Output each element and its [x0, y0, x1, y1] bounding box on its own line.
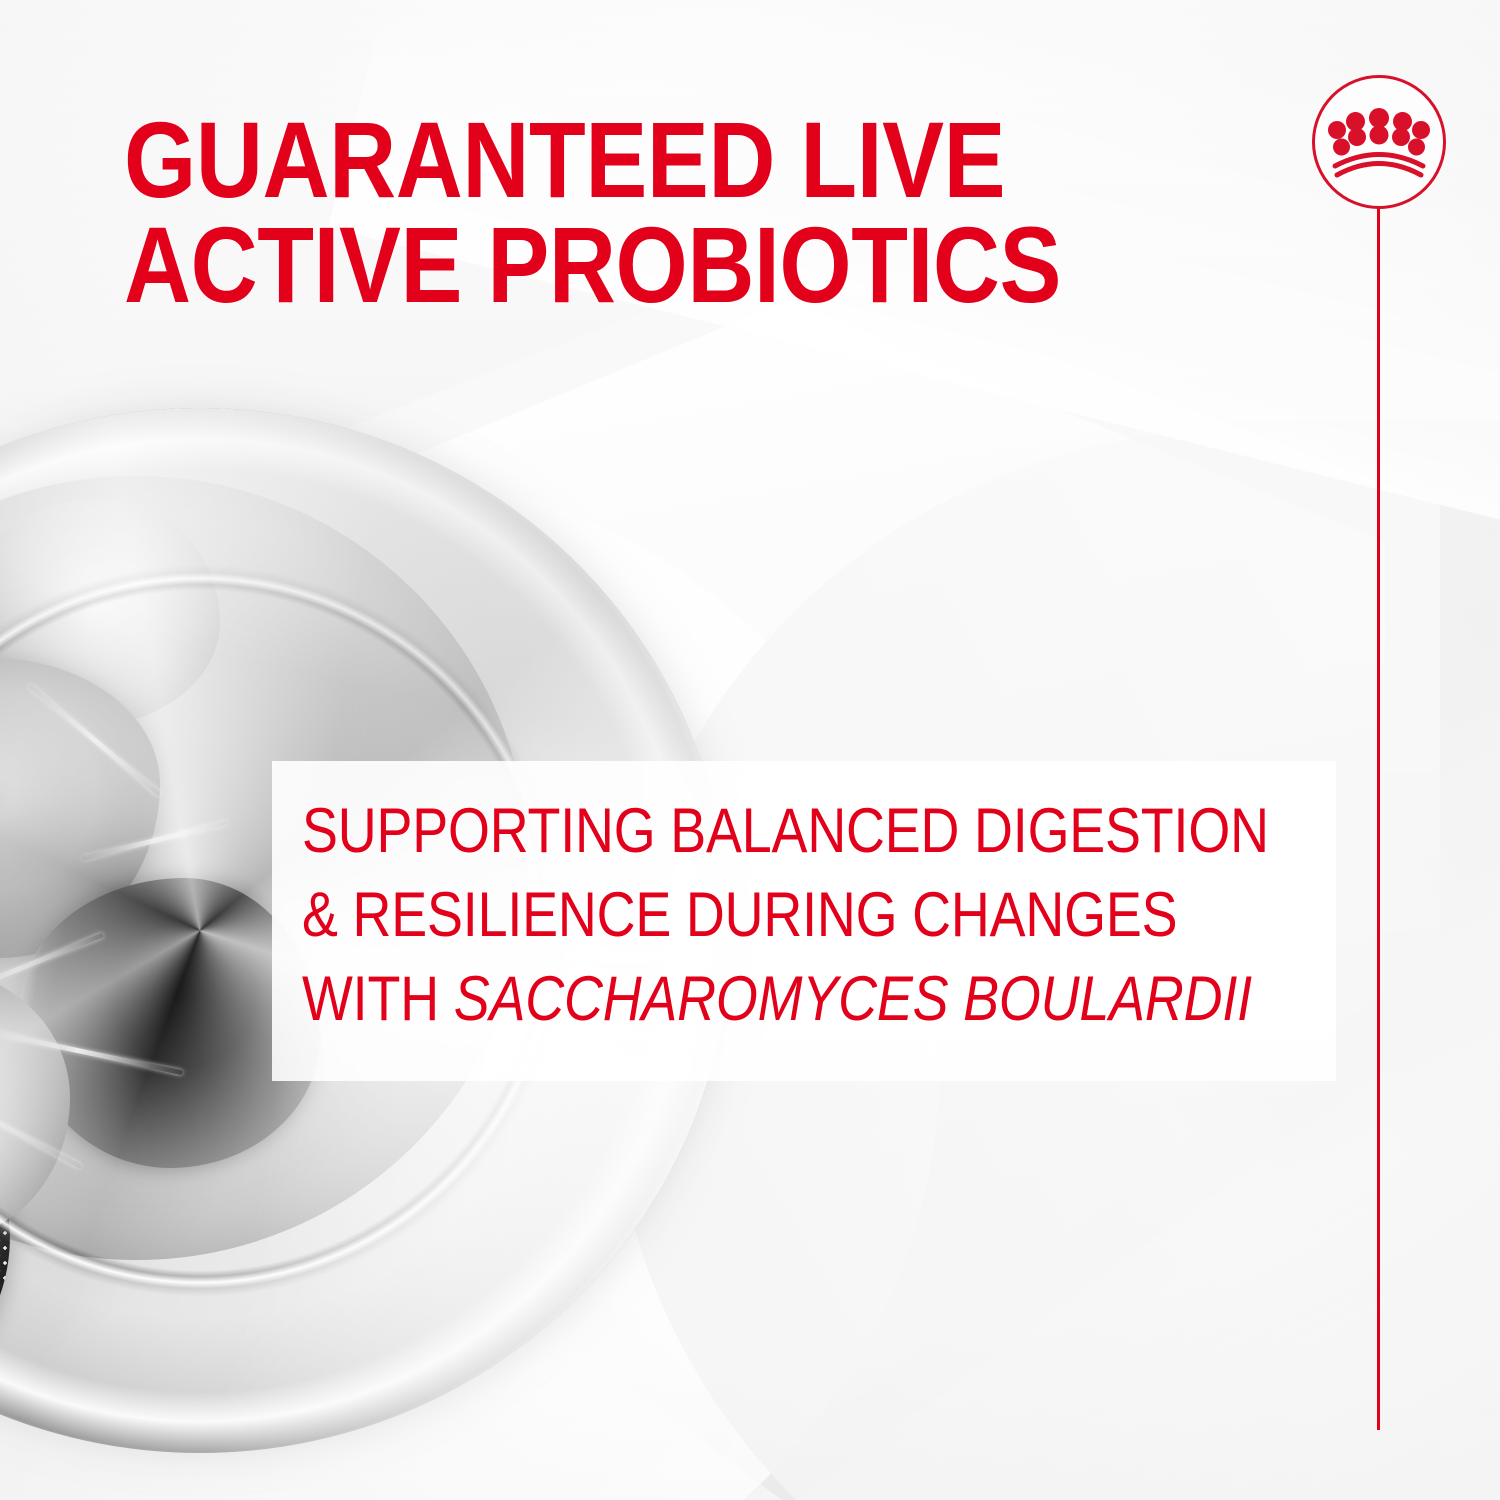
royal-canin-logo	[1312, 75, 1446, 209]
logo-stem-line	[1377, 205, 1380, 1430]
promo-banner: GUARANTEED LIVE ACTIVE PROBIOTICS SUPPOR…	[0, 0, 1500, 1500]
caption-line-1: SUPPORTING BALANCED DIGESTION	[302, 790, 1208, 874]
page-title: GUARANTEED LIVE ACTIVE PROBIOTICS	[124, 108, 1113, 318]
royal-canin-crown-icon	[1315, 78, 1443, 206]
caption-line-2: & RESILIENCE DURING CHANGES	[302, 874, 1208, 958]
caption-line-3-prefix: WITH	[302, 964, 454, 1034]
caption-line-3-species: SACCHAROMYCES BOULARDII	[454, 964, 1252, 1034]
caption-text: SUPPORTING BALANCED DIGESTION & RESILIEN…	[302, 790, 1208, 1041]
caption-line-3: WITH SACCHAROMYCES BOULARDII	[302, 958, 1208, 1042]
